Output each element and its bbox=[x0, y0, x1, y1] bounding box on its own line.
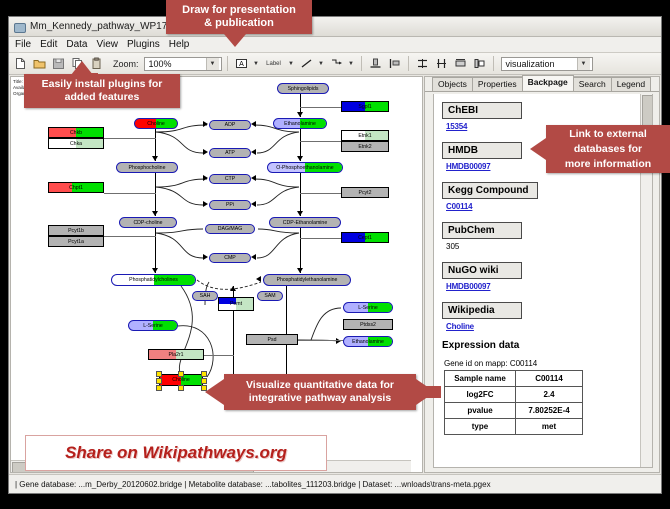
node-dag-mag[interactable]: DAG/MAG bbox=[205, 224, 255, 234]
cell-value: 7.80252E-4 bbox=[516, 403, 583, 419]
side-panel-tabs: Objects Properties Backpage Search Legen… bbox=[425, 77, 659, 92]
tab-legend[interactable]: Legend bbox=[611, 77, 651, 91]
node-label: L-Serine bbox=[358, 305, 378, 311]
arrow-atp-r bbox=[251, 149, 256, 155]
arrow-ppi-r bbox=[251, 201, 256, 207]
tab-properties[interactable]: Properties bbox=[472, 77, 523, 91]
align-left-icon[interactable] bbox=[386, 55, 403, 72]
callout-link-stem-bar bbox=[545, 143, 550, 155]
label-tool-icon[interactable]: Label bbox=[263, 55, 285, 72]
size-equal-icon[interactable] bbox=[452, 55, 469, 72]
status-text: | Gene database: ...m_Derby_20120602.bri… bbox=[15, 480, 491, 489]
node-label: Choline bbox=[147, 121, 165, 127]
toolbar-separator-3 bbox=[408, 56, 409, 71]
db-link-wikipedia[interactable]: Choline bbox=[446, 322, 644, 331]
node-etnk2[interactable]: Etnk2 bbox=[341, 141, 389, 152]
edge-pcyt1-gene bbox=[104, 236, 156, 237]
node-label: Pcyt1b bbox=[68, 228, 84, 234]
menu-help[interactable]: Help bbox=[169, 39, 190, 50]
node-label: O-Phosphoethanolamine bbox=[276, 165, 333, 171]
callout-visualize-line2: integrative pathway analysis bbox=[249, 392, 391, 405]
menu-bar: File Edit Data View Plugins Help bbox=[9, 37, 661, 53]
node-adp[interactable]: ADP bbox=[209, 120, 251, 130]
cell-value: C00114 bbox=[516, 371, 583, 387]
save-icon[interactable] bbox=[50, 55, 67, 72]
callout-visualize-stem-right bbox=[419, 386, 441, 398]
toolbar: Zoom: 100% ▼ A ▼ Label ▼ ▼ ▼ bbox=[9, 53, 661, 75]
arrow-down-6 bbox=[297, 211, 303, 216]
selection-handle-nw[interactable] bbox=[156, 371, 162, 377]
cell-key: Sample name bbox=[445, 371, 516, 387]
node-choline-top[interactable]: Choline bbox=[134, 118, 178, 129]
node-etnk1[interactable]: Etnk1 bbox=[341, 130, 389, 141]
db-header-kegg: Kegg Compound bbox=[442, 182, 538, 199]
node-ethanolamine[interactable]: Ethanolamine bbox=[273, 118, 327, 129]
new-file-icon[interactable] bbox=[12, 55, 29, 72]
bring-to-front-icon[interactable] bbox=[471, 55, 488, 72]
edge-cept1-gene bbox=[300, 238, 342, 239]
menu-edit[interactable]: Edit bbox=[40, 39, 57, 50]
node-label: Cept1 bbox=[358, 235, 372, 241]
cell-value: 2.4 bbox=[516, 387, 583, 403]
edge-petn-cdpetn bbox=[300, 173, 301, 216]
callout-link-line1: Link to external bbox=[569, 127, 647, 142]
arrow-adp bbox=[203, 121, 208, 127]
distribute-vertical-icon[interactable] bbox=[414, 55, 431, 72]
arrow-down-7 bbox=[297, 268, 303, 273]
tab-backpage[interactable]: Backpage bbox=[522, 75, 574, 90]
selection-handle-s[interactable] bbox=[178, 385, 184, 391]
node-pcyt2[interactable]: Pcyt2 bbox=[341, 187, 389, 198]
line-tool-icon[interactable] bbox=[298, 55, 315, 72]
share-banner: Share on Wikipathways.org bbox=[25, 435, 327, 471]
node-label: Ethanolamine bbox=[284, 121, 316, 127]
node-label: Chkb bbox=[70, 130, 82, 136]
visualization-value: visualization bbox=[506, 59, 555, 69]
edge-pla2r1 bbox=[204, 355, 234, 356]
node-sah[interactable]: SAH bbox=[192, 291, 218, 301]
zoom-combo[interactable]: 100% ▼ bbox=[144, 57, 222, 71]
node-sphingolipids[interactable]: Sphingolipids bbox=[277, 83, 329, 94]
db-header-chebi: ChEBI bbox=[442, 102, 522, 119]
db-header-pubchem: PubChem bbox=[442, 222, 522, 239]
arrow-ppi bbox=[203, 201, 208, 207]
arrow-ctp-r bbox=[251, 175, 256, 181]
toolbar-separator-2 bbox=[361, 56, 362, 71]
arrow-down-1 bbox=[152, 156, 158, 161]
callout-link: Link to external databases for more info… bbox=[546, 125, 670, 173]
arrow-up-pe bbox=[230, 286, 236, 291]
chevron-down-icon[interactable]: ▼ bbox=[206, 58, 219, 70]
callout-link-arrow bbox=[530, 138, 546, 160]
chevron-down-icon-2[interactable]: ▼ bbox=[577, 58, 590, 70]
db-header-hmdb: HMDB bbox=[442, 142, 522, 159]
arrow-pemt bbox=[256, 276, 261, 282]
open-folder-icon[interactable] bbox=[31, 55, 48, 72]
node-label: L-Serine bbox=[143, 323, 163, 329]
table-row: Sample name C00114 bbox=[445, 371, 583, 387]
node-o-phosphoethanolamine[interactable]: O-Phosphoethanolamine bbox=[267, 162, 343, 173]
callout-link-line2: databases for bbox=[574, 142, 642, 157]
menu-file[interactable]: File bbox=[15, 39, 31, 50]
node-label: DAG/MAG bbox=[218, 226, 243, 232]
node-label: Psd bbox=[268, 337, 277, 343]
node-l-serine-left[interactable]: L-Serine bbox=[128, 320, 178, 331]
node-ctp[interactable]: CTP bbox=[209, 174, 251, 184]
tab-search[interactable]: Search bbox=[573, 77, 612, 91]
node-label: CTP bbox=[225, 176, 235, 182]
node-label: Etnk1 bbox=[358, 133, 371, 139]
arrow-atp bbox=[203, 149, 208, 155]
node-label: Phosphatidylethanolamine bbox=[277, 277, 338, 283]
cell-key: pvalue bbox=[445, 403, 516, 419]
app-icon bbox=[13, 21, 25, 33]
pathway-canvas[interactable]: Title: Availa Organi bbox=[10, 76, 423, 473]
arrow-etn2 bbox=[336, 338, 341, 344]
status-bar: | Gene database: ...m_Derby_20120602.bri… bbox=[9, 474, 661, 493]
arrow-cmp bbox=[203, 254, 208, 260]
db-value-pubchem: 305 bbox=[446, 242, 644, 251]
node-chpt1[interactable]: Chpt1 bbox=[48, 182, 104, 193]
node-psd[interactable]: Psd bbox=[246, 334, 298, 345]
align-bottom-icon[interactable] bbox=[367, 55, 384, 72]
node-label: Sgpl1 bbox=[358, 104, 371, 110]
db-header-nugo: NuGO wiki bbox=[442, 262, 522, 279]
gene-id-line: Gene id on mapp: C00114 bbox=[444, 359, 644, 368]
callout-draw-arrow bbox=[224, 34, 246, 47]
menu-data[interactable]: Data bbox=[66, 39, 87, 50]
callout-draw: Draw for presentation & publication bbox=[166, 0, 312, 34]
edge-psd bbox=[298, 340, 344, 341]
zoom-label: Zoom: bbox=[113, 59, 139, 69]
selection-handle-ne[interactable] bbox=[201, 371, 207, 377]
db-link-nugo[interactable]: HMDB00097 bbox=[446, 282, 644, 291]
edge-cdpetn-pe bbox=[300, 228, 301, 273]
callout-visualize: Visualize quantitative data for integrat… bbox=[224, 374, 416, 410]
node-label: Phosphocholine bbox=[129, 165, 166, 171]
edge-phosphocholine-cdpcholine bbox=[155, 173, 156, 216]
selection-handle-sw[interactable] bbox=[156, 385, 162, 391]
callout-plugins-line2: added features bbox=[65, 91, 140, 104]
cell-key: type bbox=[445, 419, 516, 435]
cell-value: met bbox=[516, 419, 583, 435]
callout-visualize-left-arrow bbox=[205, 379, 224, 405]
table-row: type met bbox=[445, 419, 583, 435]
arrow-down-3 bbox=[152, 268, 158, 273]
pathvisio-window: Mm_Kennedy_pathway_WP1771_45176.gpml Fil… bbox=[8, 16, 662, 494]
toolbar-separator-4 bbox=[493, 56, 494, 71]
arrow-adp-r bbox=[251, 121, 256, 127]
node-label: Ethanolamine bbox=[352, 339, 384, 345]
node-label: Chpt1 bbox=[69, 185, 83, 191]
callout-draw-line2: & publication bbox=[204, 17, 274, 30]
node-ppi[interactable]: PPi bbox=[209, 200, 251, 210]
callout-visualize-line1: Visualize quantitative data for bbox=[246, 379, 394, 392]
node-phosphatidylcholines[interactable]: Phosphatidylcholines bbox=[111, 274, 196, 286]
table-row: pvalue 7.80252E-4 bbox=[445, 403, 583, 419]
node-label: SAM bbox=[264, 293, 275, 299]
expression-table: Sample name C00114 log2FC 2.4 pvalue 7.8… bbox=[444, 370, 583, 435]
node-pemt[interactable]: Pemt bbox=[218, 297, 254, 311]
zoom-value: 100% bbox=[149, 59, 172, 69]
menu-view[interactable]: View bbox=[96, 39, 118, 50]
node-ptdss2[interactable]: Ptdss2 bbox=[343, 319, 393, 330]
edge-cdpcholine-pc bbox=[155, 228, 156, 273]
node-label: Phosphatidylcholines bbox=[129, 277, 178, 283]
selection-handle-w[interactable] bbox=[156, 378, 162, 384]
share-text: Share on Wikipathways.org bbox=[65, 443, 287, 463]
arrow-cmp-r bbox=[251, 254, 256, 260]
distribute-horizontal-icon[interactable] bbox=[433, 55, 450, 72]
edge-etnk-gene bbox=[300, 141, 342, 142]
node-label: Ptdss2 bbox=[360, 322, 376, 328]
node-label: Sphingolipids bbox=[288, 86, 319, 92]
expression-data-heading: Expression data bbox=[442, 340, 644, 351]
toolbar-separator bbox=[227, 56, 228, 71]
node-label: PPi bbox=[226, 202, 234, 208]
node-phosphocholine[interactable]: Phosphocholine bbox=[116, 162, 178, 173]
edge-pcyt2-gene bbox=[300, 193, 342, 194]
edge-sgpl1-gene bbox=[300, 107, 342, 108]
node-label: Pla2r1 bbox=[169, 352, 184, 358]
arrow-shape-icon[interactable] bbox=[328, 55, 345, 72]
node-label: ATP bbox=[225, 150, 235, 156]
node-phosphatidylethanolamine[interactable]: Phosphatidylethanolamine bbox=[263, 274, 351, 286]
edge-chpt1-gene bbox=[104, 193, 156, 194]
node-label: CDP-Ethanolamine bbox=[283, 220, 327, 226]
node-sgpl1[interactable]: Sgpl1 bbox=[341, 101, 389, 112]
arrow-down-4 bbox=[297, 112, 303, 117]
node-atp[interactable]: ATP bbox=[209, 148, 251, 158]
label-tool-dropdown-icon[interactable]: ▼ bbox=[287, 56, 296, 71]
callout-draw-line1: Draw for presentation bbox=[182, 4, 296, 17]
node-sam[interactable]: SAM bbox=[257, 291, 283, 301]
callout-plugins-stem-bar bbox=[82, 73, 98, 79]
node-chka[interactable]: Chka bbox=[48, 138, 104, 149]
title-bar: Mm_Kennedy_pathway_WP1771_45176.gpml bbox=[9, 17, 661, 37]
cell-key: log2FC bbox=[445, 387, 516, 403]
db-link-kegg[interactable]: C00114 bbox=[446, 202, 644, 211]
arrow-down-5 bbox=[297, 156, 303, 161]
node-ethanolamine-right[interactable]: Ethanolamine bbox=[343, 336, 393, 347]
node-pla2r1[interactable]: Pla2r1 bbox=[148, 349, 204, 360]
arrow-shape-dropdown-icon[interactable]: ▼ bbox=[347, 56, 356, 71]
node-pcyt1a[interactable]: Pcyt1a bbox=[48, 236, 104, 247]
node-l-serine-right[interactable]: L-Serine bbox=[343, 302, 393, 313]
node-label: SAH bbox=[200, 293, 211, 299]
callout-plugins-line1: Easily install plugins for bbox=[42, 78, 163, 91]
tab-objects[interactable]: Objects bbox=[432, 77, 473, 91]
text-tool-icon[interactable]: A bbox=[233, 55, 250, 72]
line-tool-dropdown-icon[interactable]: ▼ bbox=[317, 56, 326, 71]
edge-chk-gene bbox=[104, 138, 156, 139]
node-label: CDP-choline bbox=[133, 220, 162, 226]
node-chkb[interactable]: Chkb bbox=[48, 127, 104, 138]
arrow-down-2 bbox=[152, 211, 158, 216]
label-tool-text: Label bbox=[266, 61, 281, 67]
node-cmp[interactable]: CMP bbox=[209, 253, 251, 263]
node-cdp-ethanolamine[interactable]: CDP-Ethanolamine bbox=[269, 217, 341, 228]
svg-text:A: A bbox=[239, 61, 244, 68]
db-header-wikipedia: Wikipedia bbox=[442, 302, 522, 319]
visualization-combo[interactable]: visualization ▼ bbox=[501, 57, 593, 71]
node-cept1[interactable]: Cept1 bbox=[341, 232, 389, 243]
callout-plugins: Easily install plugins for added feature… bbox=[24, 74, 180, 108]
node-label: Chka bbox=[70, 141, 82, 147]
node-label: Choline bbox=[172, 377, 190, 383]
node-cdp-choline[interactable]: CDP-choline bbox=[119, 217, 177, 228]
menu-plugins[interactable]: Plugins bbox=[127, 39, 160, 50]
node-pcyt1b[interactable]: Pcyt1b bbox=[48, 225, 104, 236]
node-label: Pemt bbox=[230, 301, 242, 307]
node-label: ADP bbox=[225, 122, 236, 128]
arrow-ctp bbox=[203, 175, 208, 181]
node-label: Pcyt2 bbox=[359, 190, 372, 196]
node-label: Pcyt1a bbox=[68, 239, 84, 245]
node-label: CMP bbox=[224, 255, 236, 261]
callout-link-line3: more information bbox=[565, 157, 651, 172]
node-label: Etnk2 bbox=[358, 144, 371, 150]
text-tool-dropdown-icon[interactable]: ▼ bbox=[252, 56, 261, 71]
table-row: log2FC 2.4 bbox=[445, 387, 583, 403]
